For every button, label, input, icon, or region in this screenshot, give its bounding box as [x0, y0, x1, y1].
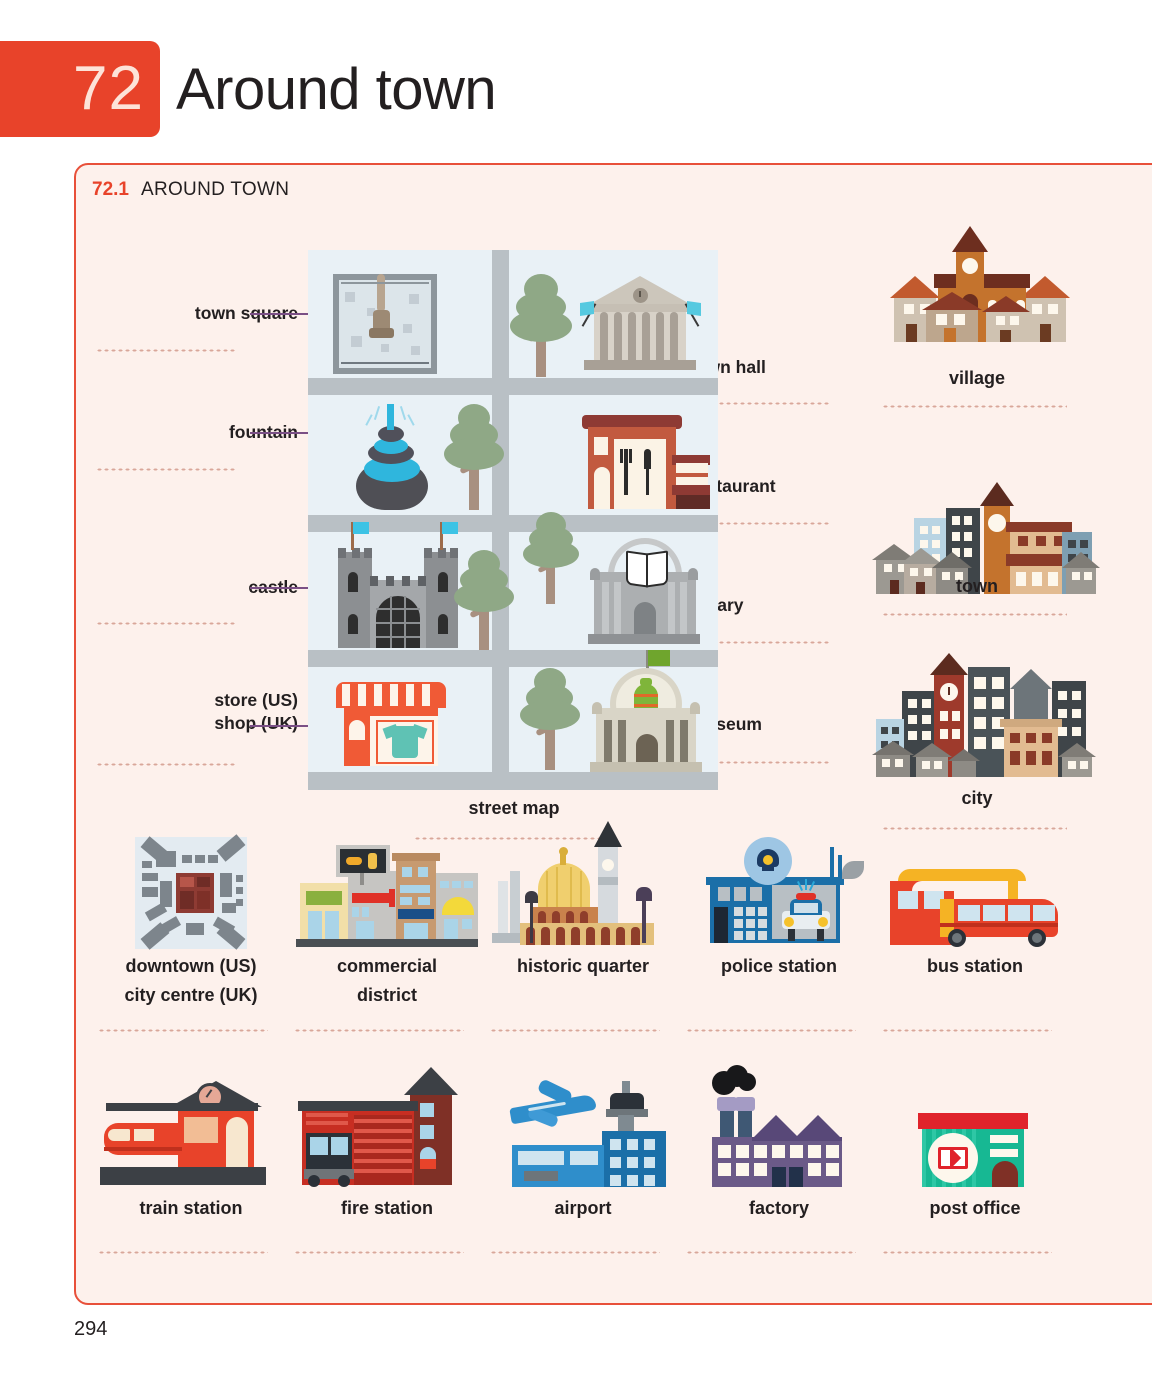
answer-line-city[interactable]: [882, 827, 1067, 830]
answer-line-factory[interactable]: [686, 1251, 856, 1254]
road-horizontal-4: [308, 772, 718, 790]
post-office-icon: [882, 1079, 1068, 1191]
tile-commercial-district: commercial district: [294, 837, 480, 1008]
museum-icon: [590, 650, 702, 772]
caption-commercial-district-line2: district: [294, 984, 480, 1007]
airport-icon: [490, 1079, 676, 1191]
section-heading: 72.1 AROUND TOWN: [92, 179, 289, 201]
chapter-number-badge: 72: [0, 41, 160, 137]
town-square-icon: [333, 274, 437, 374]
downtown-icon: [98, 837, 284, 949]
commercial-district-icon: [294, 837, 480, 949]
answer-line-town[interactable]: [882, 613, 1067, 616]
answer-line-post-office[interactable]: [882, 1251, 1052, 1254]
police-station-icon: [686, 837, 872, 949]
tile-bus-station: bus station: [882, 837, 1068, 984]
tile-airport: airport: [490, 1079, 676, 1226]
road-horizontal-2: [308, 515, 718, 532]
page-title: Around town: [176, 41, 496, 137]
caption-village: village: [882, 367, 1072, 390]
answer-line-town-square[interactable]: [96, 349, 236, 352]
tree-icon-5: [520, 668, 580, 770]
caption-city: city: [882, 787, 1072, 810]
caption-airport-line1: airport: [490, 1197, 676, 1220]
restaurant-icon: [580, 415, 710, 515]
fire-station-icon: [294, 1079, 480, 1191]
answer-line-castle[interactable]: [96, 622, 236, 625]
caption-downtown-line1: downtown (US): [98, 955, 284, 978]
label-store-shop-line1: store (US): [98, 689, 298, 712]
train-station-icon: [98, 1079, 284, 1191]
store-shop-icon: [336, 668, 446, 768]
library-icon: [588, 538, 700, 650]
answer-line-store-shop[interactable]: [96, 763, 236, 766]
tree-icon-3: [453, 550, 515, 650]
tile-post-office: post office: [882, 1079, 1068, 1226]
caption-town: town: [882, 575, 1072, 598]
tree-icon-4: [523, 512, 579, 604]
street-map-illustration: [308, 250, 718, 790]
tile-train-station: train station: [98, 1079, 284, 1226]
bus-station-icon: [882, 837, 1068, 949]
caption-downtown-line2: city centre (UK): [98, 984, 284, 1007]
castle-icon: [328, 538, 468, 650]
tile-factory: factory: [686, 1079, 872, 1226]
caption-commercial-district-line1: commercial: [294, 955, 480, 978]
caption-post-office-line1: post office: [882, 1197, 1068, 1220]
road-vertical-1: [492, 250, 509, 790]
fountain-icon: [346, 398, 436, 513]
tile-historic-quarter: historic quarter: [490, 837, 676, 984]
answer-line-historic-quarter[interactable]: [490, 1029, 660, 1032]
section-title: AROUND TOWN: [141, 179, 289, 201]
caption-bus-station-line1: bus station: [882, 955, 1068, 978]
tile-fire-station: fire station: [294, 1079, 480, 1226]
caption-police-station-line1: police station: [686, 955, 872, 978]
answer-line-police-station[interactable]: [686, 1029, 856, 1032]
page-number: 294: [74, 1318, 107, 1341]
historic-quarter-icon: [490, 837, 676, 949]
answer-line-fire-station[interactable]: [294, 1251, 464, 1254]
label-store-shop-line2: shop (UK): [98, 712, 298, 735]
answer-line-commercial-district[interactable]: [294, 1029, 464, 1032]
caption-street-map: street map: [406, 797, 622, 820]
answer-line-downtown[interactable]: [98, 1029, 268, 1032]
caption-historic-quarter-line1: historic quarter: [490, 955, 676, 978]
factory-icon: [686, 1079, 872, 1191]
tree-icon-2: [443, 402, 505, 510]
tile-downtown: downtown (US) city centre (UK): [98, 837, 284, 1008]
caption-factory-line1: factory: [686, 1197, 872, 1220]
tile-police-station: police station: [686, 837, 872, 984]
town-hall-icon: [580, 276, 700, 376]
tree-icon-1: [508, 272, 574, 377]
road-horizontal-1: [308, 378, 718, 395]
chapter-number: 72: [73, 58, 144, 120]
answer-line-train-station[interactable]: [98, 1251, 268, 1254]
exercise-panel: 72.1 AROUND TOWN town square fountain ca…: [74, 163, 1152, 1305]
answer-line-airport[interactable]: [490, 1251, 660, 1254]
answer-line-bus-station[interactable]: [882, 1029, 1052, 1032]
caption-fire-station-line1: fire station: [294, 1197, 480, 1220]
city-icon: [876, 667, 1076, 792]
answer-line-fountain[interactable]: [96, 468, 236, 471]
section-number: 72.1: [92, 179, 129, 201]
answer-line-village[interactable]: [882, 405, 1067, 408]
caption-train-station-line1: train station: [98, 1197, 284, 1220]
chapter-header: 72 Around town: [0, 41, 1152, 137]
village-icon: [882, 248, 1072, 358]
